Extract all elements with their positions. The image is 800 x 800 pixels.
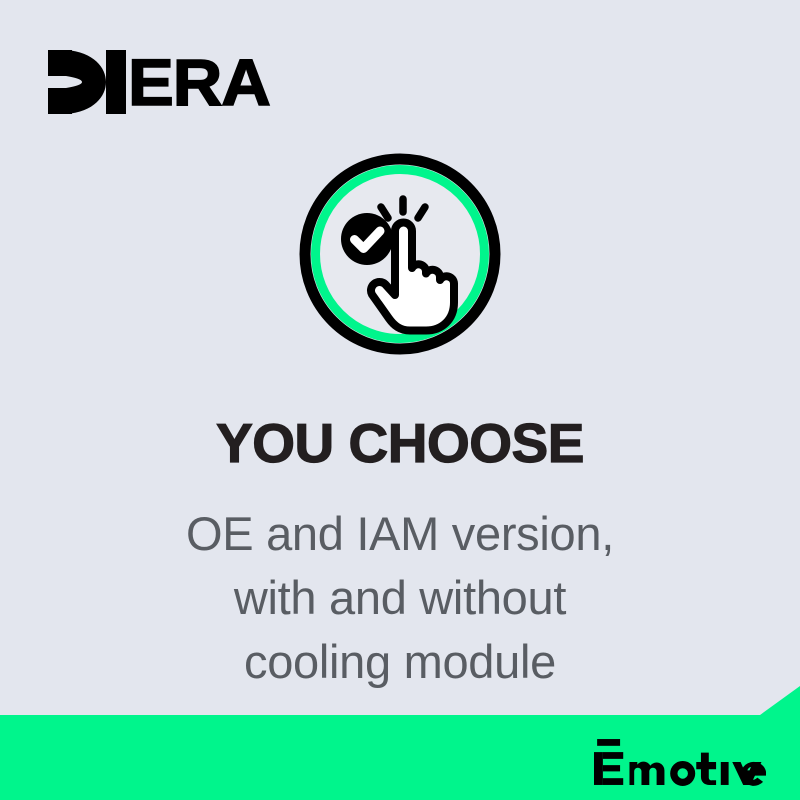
era-chevron-mark xyxy=(48,50,126,114)
promo-card: ERA YOU C xyxy=(0,0,800,800)
subtitle: OE and IAM version, with and without coo… xyxy=(0,502,800,694)
emotive-wordmark xyxy=(594,738,766,786)
subtitle-line-3: cooling module xyxy=(0,630,800,694)
footer-band xyxy=(0,686,800,800)
era-wordmark: ERA xyxy=(128,50,270,114)
era-brand-logo: ERA xyxy=(48,48,264,116)
click-hand-check-icon xyxy=(299,153,501,355)
subtitle-line-2: with and without xyxy=(0,566,800,630)
check-badge-icon xyxy=(341,213,393,265)
page-title: YOU CHOOSE xyxy=(0,412,800,474)
subtitle-line-1: OE and IAM version, xyxy=(0,502,800,566)
